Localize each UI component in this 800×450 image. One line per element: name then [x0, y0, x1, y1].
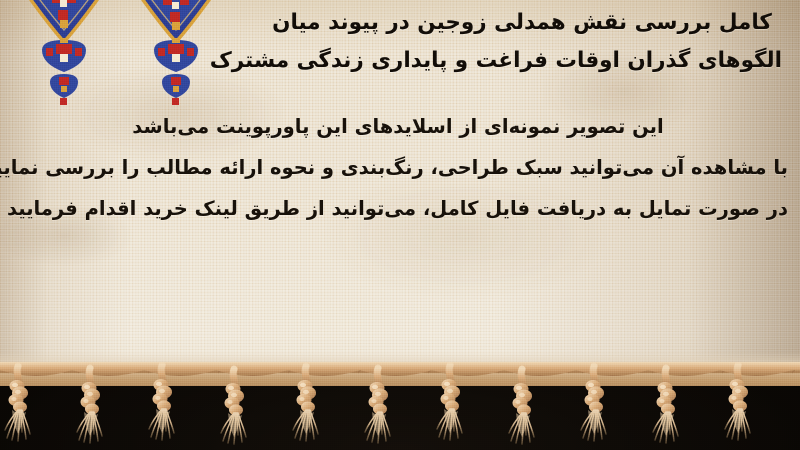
presentation-slide: کامل بررسی نقش همدلی زوجین در پیوند میان… — [0, 0, 800, 450]
carpet-fringe-tassels — [0, 362, 800, 450]
body-text-line-3: در صورت تمایل به دریافت فایل کامل، می‌تو… — [8, 188, 788, 229]
slide-heading: کامل بررسی نقش همدلی زوجین در پیوند میان… — [262, 4, 782, 80]
slide-heading-line-2: الگوهای گذران اوقات فراغت و پایداری زندگ… — [262, 42, 782, 80]
tassel-group — [5, 365, 750, 444]
persian-boteh-medallion-ornament-left — [8, 0, 120, 106]
slide-heading-line-1: کامل بررسی نقش همدلی زوجین در پیوند میان — [262, 4, 782, 42]
body-text-line-2: با مشاهده آن می‌توانید سبک طراحی، رنگ‌بن… — [8, 147, 788, 188]
body-text-line-1: این تصویر نمونه‌ای از اسلایدهای این پاور… — [8, 106, 788, 147]
slide-body-text: این تصویر نمونه‌ای از اسلایدهای این پاور… — [8, 106, 788, 229]
